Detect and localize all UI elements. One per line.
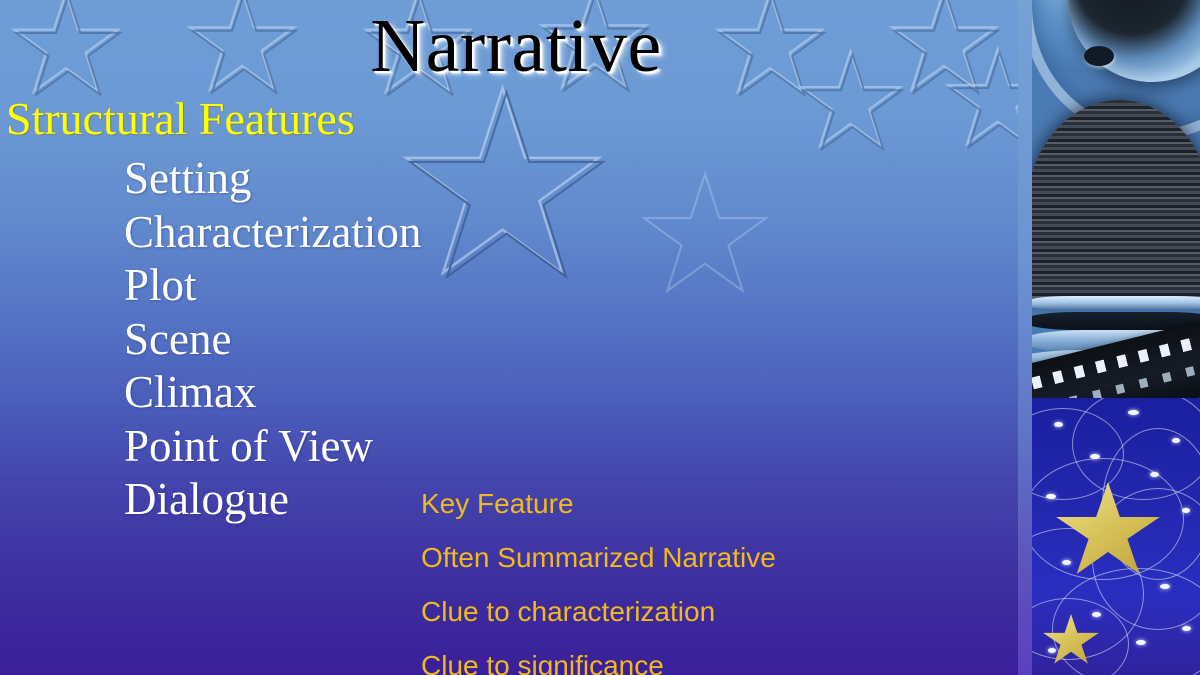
sparkle [1092, 612, 1101, 617]
list-item: Plot [124, 259, 421, 313]
reel-flange-band [1032, 296, 1200, 310]
list-item: Point of View [124, 420, 421, 474]
list-item: Dialogue [124, 473, 421, 527]
photo-panel-border [1018, 0, 1032, 675]
sparkle [1062, 560, 1071, 565]
sparkle [1090, 454, 1100, 459]
sparkle [1160, 584, 1170, 589]
slide-subtitle: Structural Features [6, 92, 355, 146]
list-item: Setting [124, 152, 421, 206]
list-item: Scene [124, 313, 421, 367]
reel-spoke-hole [1084, 46, 1114, 66]
sparkle [1136, 640, 1146, 645]
sparkle [1054, 422, 1063, 427]
list-item: Climax [124, 366, 421, 420]
sparkle [1182, 508, 1190, 513]
list-item: Often Summarized Narrative [421, 531, 776, 585]
film-stock-coil [1032, 100, 1200, 300]
list-item: Key Feature [421, 477, 776, 531]
list-item: Characterization [124, 206, 421, 260]
presentation-slide: Narrative Structural Features Setting Ch… [0, 0, 1200, 675]
slide-title: Narrative [0, 4, 1032, 88]
gold-star-field [1032, 398, 1200, 675]
sparkle [1046, 494, 1056, 499]
sparkle [1150, 472, 1159, 477]
sparkle [1128, 410, 1139, 415]
sparkle [1048, 648, 1056, 653]
film-reel-photo [1032, 0, 1200, 675]
dialogue-notes-list: Key Feature Often Summarized Narrative C… [421, 477, 776, 675]
list-item: Clue to characterization [421, 585, 776, 639]
list-item: Clue to significance [421, 639, 776, 675]
sparkle [1172, 438, 1180, 443]
sparkle [1182, 626, 1191, 631]
structural-features-list: Setting Characterization Plot Scene Clim… [124, 152, 421, 527]
